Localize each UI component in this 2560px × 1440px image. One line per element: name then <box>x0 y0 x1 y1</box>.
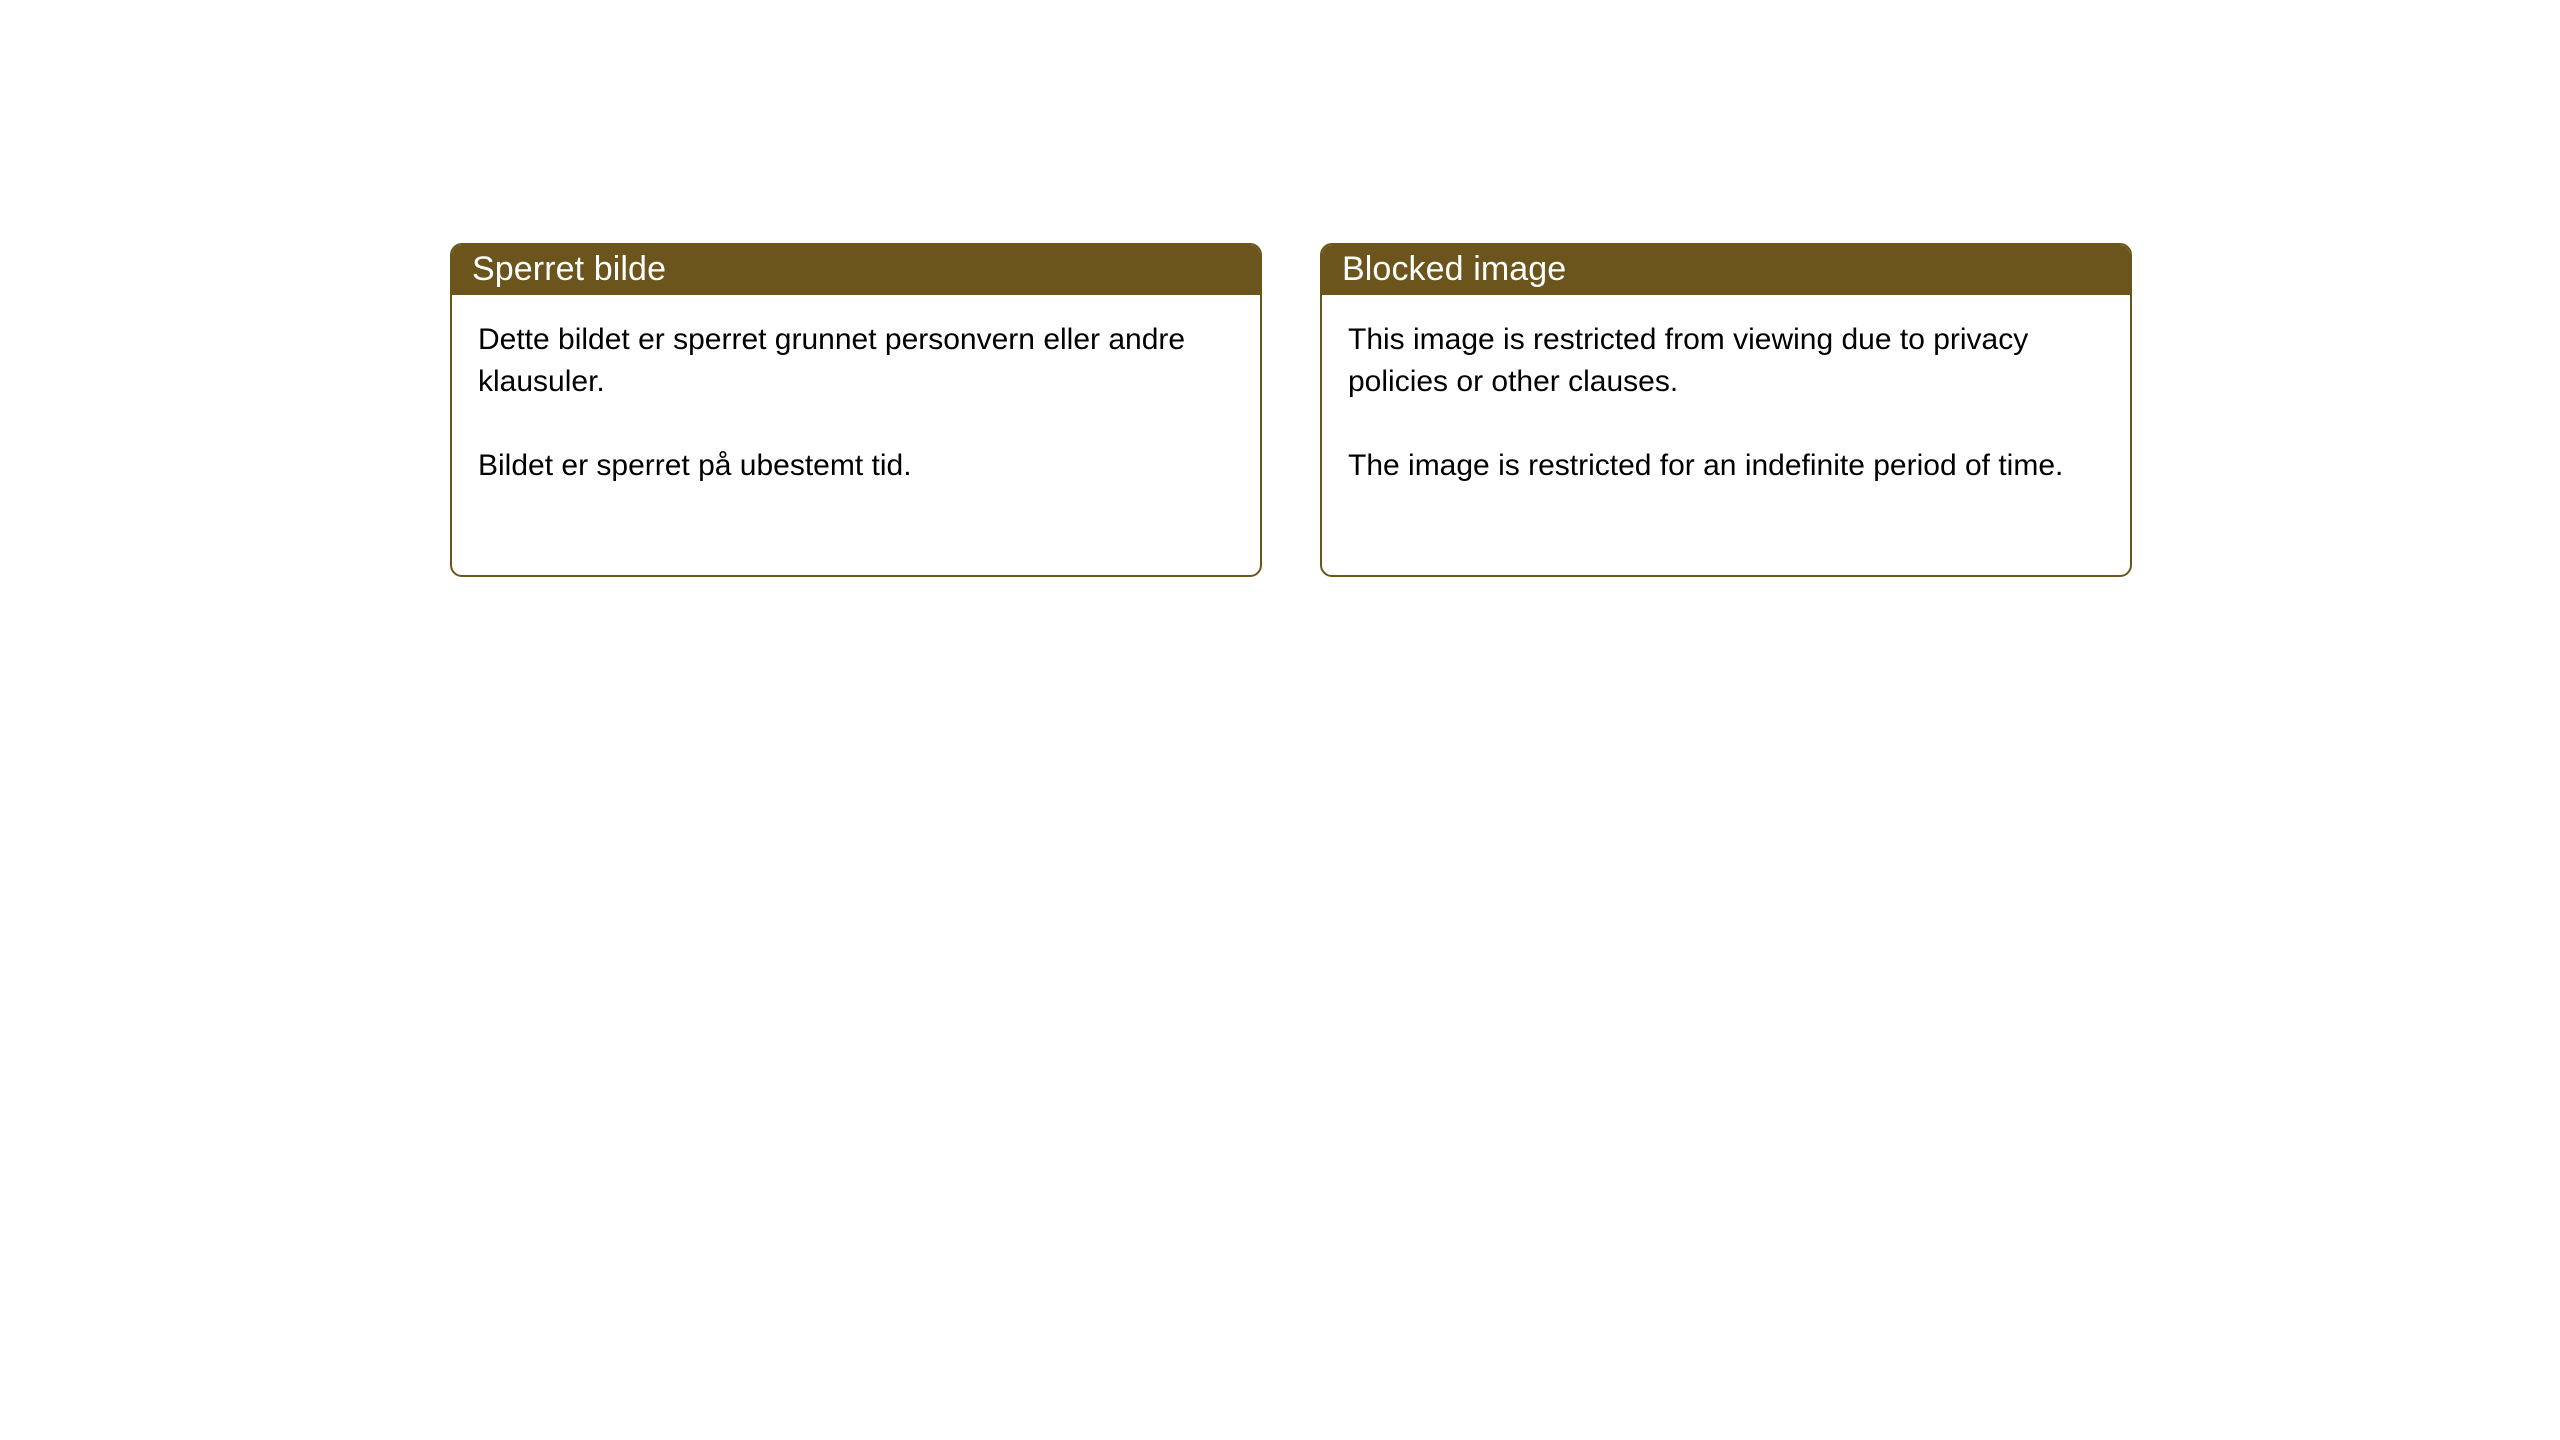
notice-paragraph-primary-no: Dette bildet er sperret grunnet personve… <box>478 319 1234 403</box>
notice-card-header-no: Sperret bilde <box>450 243 1262 295</box>
notice-paragraph-secondary-en: The image is restricted for an indefinit… <box>1348 445 2104 487</box>
notice-title-no: Sperret bilde <box>472 250 666 288</box>
notice-title-en: Blocked image <box>1342 250 1566 288</box>
notice-paragraph-secondary-no: Bildet er sperret på ubestemt tid. <box>478 445 1234 487</box>
notice-card-body-en: This image is restricted from viewing du… <box>1322 295 2130 487</box>
blocked-image-notice-card-no: Sperret bilde Dette bildet er sperret gr… <box>450 243 1262 577</box>
notice-paragraph-primary-en: This image is restricted from viewing du… <box>1348 319 2104 403</box>
page-canvas: Sperret bilde Dette bildet er sperret gr… <box>0 0 2560 1440</box>
notice-card-header-en: Blocked image <box>1320 243 2132 295</box>
blocked-image-notice-card-en: Blocked image This image is restricted f… <box>1320 243 2132 577</box>
notice-card-body-no: Dette bildet er sperret grunnet personve… <box>452 295 1260 487</box>
